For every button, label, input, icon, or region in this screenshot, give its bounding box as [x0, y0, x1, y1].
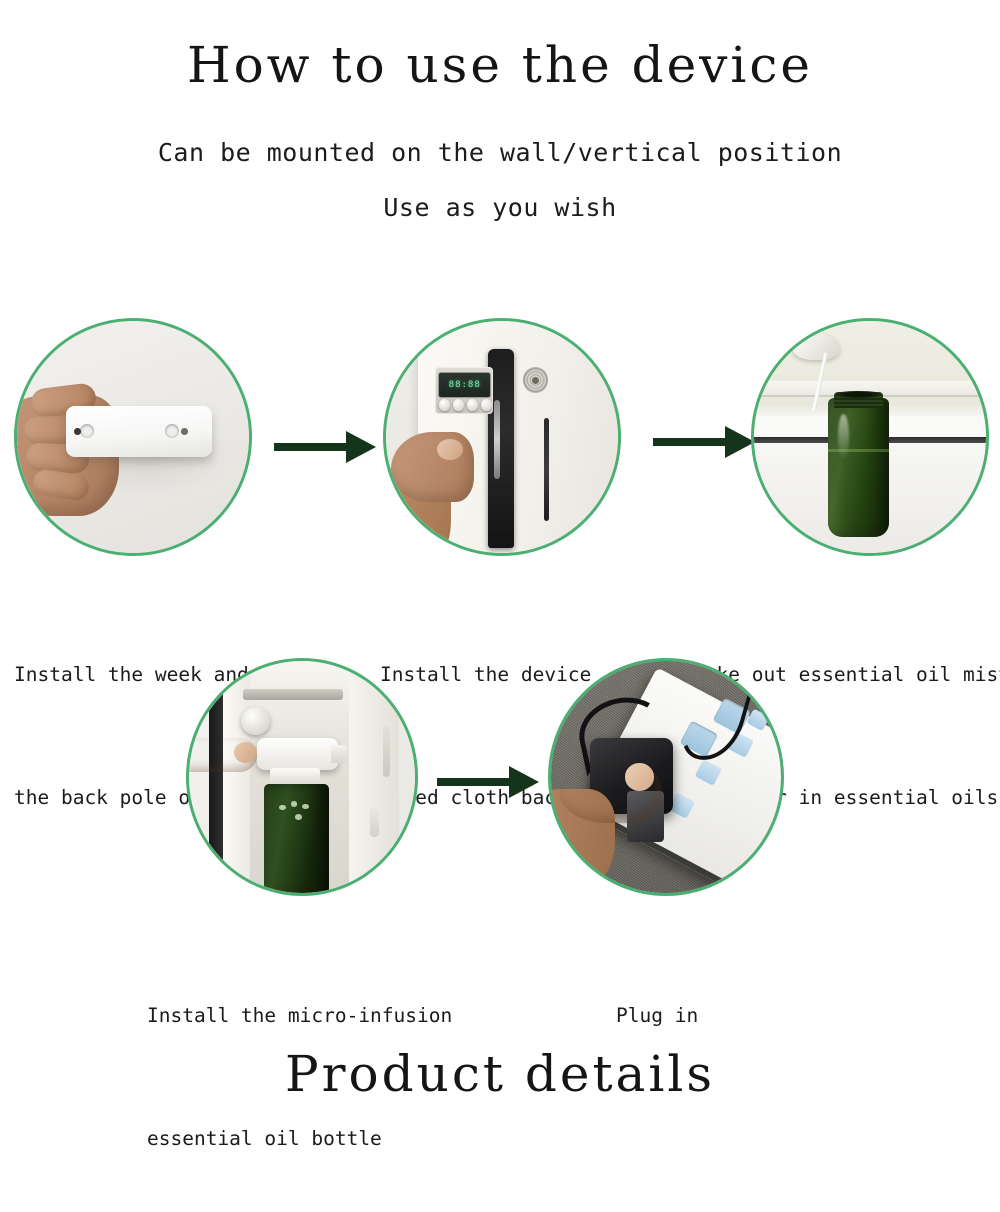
scene-wall-bracket: [17, 321, 249, 553]
mounting-bracket: [66, 406, 212, 457]
dark-left-edge: [209, 661, 223, 893]
step-3-photo: [751, 318, 989, 556]
center-slit: [494, 400, 500, 479]
step-4-caption-line-1: Install the micro-infusion: [147, 995, 507, 1036]
subtitle-line-2: Use as you wish: [0, 193, 1000, 222]
scene-install-pump: [189, 661, 415, 893]
scene-diffuser-panel: 88:88: [386, 321, 618, 553]
step-5-caption-line-1: Plug in: [616, 995, 836, 1036]
step-1-photo: [14, 318, 252, 556]
arrow-right-icon: [651, 420, 759, 464]
screw-head: [74, 428, 81, 435]
arrow-right-icon: [435, 760, 543, 804]
pump-nozzle: [331, 745, 347, 764]
panel-button: [481, 399, 492, 411]
step-2-image: 88:88: [386, 321, 618, 553]
step-3-image: [754, 321, 986, 553]
screw-head: [181, 428, 188, 435]
lcd-value: 88:88: [449, 380, 481, 390]
bubble: [295, 814, 302, 820]
keyhole-slot: [80, 424, 94, 438]
step-5-photo: [548, 658, 784, 896]
speaker-grille: [523, 367, 549, 393]
top-rail: [243, 689, 342, 701]
fingernail: [234, 742, 257, 763]
bottle-cap: [793, 333, 839, 361]
subtitle-line-1: Can be mounted on the wall/vertical posi…: [0, 138, 1000, 167]
right-slot: [370, 805, 379, 837]
keyhole-slot: [165, 424, 179, 438]
glass-highlight: [838, 414, 850, 460]
right-vent-slot: [544, 418, 549, 520]
oil-level-line: [828, 449, 888, 452]
scene-oil-bottle: [754, 321, 986, 553]
right-panel: [349, 661, 399, 893]
page-title: How to use the device: [0, 36, 1000, 94]
pump-cap: [257, 738, 338, 770]
right-slot: [383, 726, 390, 777]
panel-button: [467, 399, 478, 411]
step-2-photo: 88:88: [383, 318, 621, 556]
arrow-right-icon: [272, 425, 380, 469]
oil-bottle: [264, 784, 330, 893]
thumbnail: [625, 763, 655, 791]
section-title: Product details: [0, 1045, 1000, 1103]
thumbnail: [437, 439, 463, 460]
step-1-image: [17, 321, 249, 553]
panel-button: [453, 399, 464, 411]
scene-plug-in: [551, 661, 781, 893]
step-4-caption-line-2: essential oil bottle: [147, 1118, 507, 1159]
green-oil-bottle: [828, 398, 888, 537]
step-4-image: [189, 661, 415, 893]
bottle-mouth: [835, 391, 881, 398]
panel-button: [439, 399, 450, 411]
thumb: [391, 432, 475, 502]
step-4-photo: [186, 658, 418, 896]
lcd-display: 88:88: [438, 372, 491, 398]
step-5-image: [551, 661, 781, 893]
bubble: [302, 804, 309, 810]
